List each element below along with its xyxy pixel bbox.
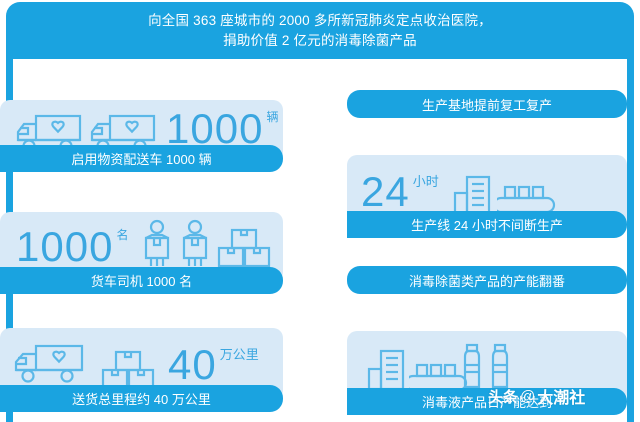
- trucks-number: 1000: [166, 108, 263, 150]
- mileage-label-bar: 送货总里程约 40 万公里: [0, 385, 283, 412]
- trucks-unit: 辆: [266, 108, 278, 125]
- card-mileage: 40 万公里 送货总里程约 40 万公里: [0, 328, 283, 416]
- card-trucks: 1000 辆 启用物资配送车 1000 辆: [0, 100, 283, 176]
- card-drivers: 1000 名: [0, 212, 283, 298]
- daily-label-bar: 消毒液产品日产能达到: [347, 388, 627, 415]
- resume-label-bar: 生产基地提前复工复产: [347, 90, 627, 118]
- capacity-label: 消毒除菌类产品的产能翻番: [409, 271, 565, 290]
- hours-unit: 小时: [413, 171, 439, 190]
- drivers-number: 1000: [16, 226, 113, 268]
- header-line-1: 向全国 363 座城市的 2000 多所新冠肺炎定点收治医院，: [148, 11, 492, 31]
- hours-number: 24: [361, 171, 410, 213]
- bottle-icon-2: [487, 343, 513, 393]
- card-24-hours: 24 小时: [347, 155, 627, 243]
- trucks-metric: 1000 辆: [166, 108, 278, 150]
- card-daily-output: 消毒液产品日产能达到: [347, 331, 627, 419]
- worker-person-icon-2: [178, 218, 212, 268]
- infographic-canvas: 向全国 363 座城市的 2000 多所新冠肺炎定点收治医院， 捐助价值 2 亿…: [0, 0, 640, 422]
- factory-building-icon-2: [367, 349, 409, 393]
- box-stack-icon: [216, 228, 272, 270]
- drivers-metric: 1000 名: [16, 226, 128, 268]
- hours-metric: 24 小时: [361, 171, 439, 213]
- capacity-label-bar: 消毒除菌类产品的产能翻番: [347, 266, 627, 294]
- resume-label: 生产基地提前复工复产: [422, 95, 552, 114]
- card-resume-production: 生产基地提前复工复产: [347, 90, 627, 118]
- hours-label: 生产线 24 小时不间断生产: [411, 215, 563, 234]
- mileage-metric: 40 万公里: [168, 344, 259, 386]
- worker-person-icon: [140, 218, 174, 268]
- right-accent-rail: [627, 57, 634, 422]
- card-capacity-doubled: 消毒除菌类产品的产能翻番: [347, 266, 627, 294]
- mileage-label: 送货总里程约 40 万公里: [72, 389, 211, 408]
- header-banner: 向全国 363 座城市的 2000 多所新冠肺炎定点收治医院， 捐助价值 2 亿…: [6, 2, 634, 59]
- trucks-label-bar: 启用物资配送车 1000 辆: [0, 145, 283, 172]
- header-line-2: 捐助价值 2 亿元的消毒除菌产品: [223, 31, 417, 51]
- delivery-truck-heart-icon-3: [12, 342, 90, 390]
- trucks-label: 启用物资配送车 1000 辆: [71, 149, 211, 168]
- drivers-label: 货车司机 1000 名: [91, 271, 192, 290]
- bottle-icon: [459, 343, 485, 393]
- mileage-unit: 万公里: [220, 344, 259, 363]
- daily-label: 消毒液产品日产能达到: [422, 392, 552, 411]
- drivers-unit: 名: [116, 226, 128, 243]
- hours-label-bar: 生产线 24 小时不间断生产: [347, 211, 627, 238]
- mileage-number: 40: [168, 344, 217, 386]
- drivers-label-bar: 货车司机 1000 名: [0, 267, 283, 294]
